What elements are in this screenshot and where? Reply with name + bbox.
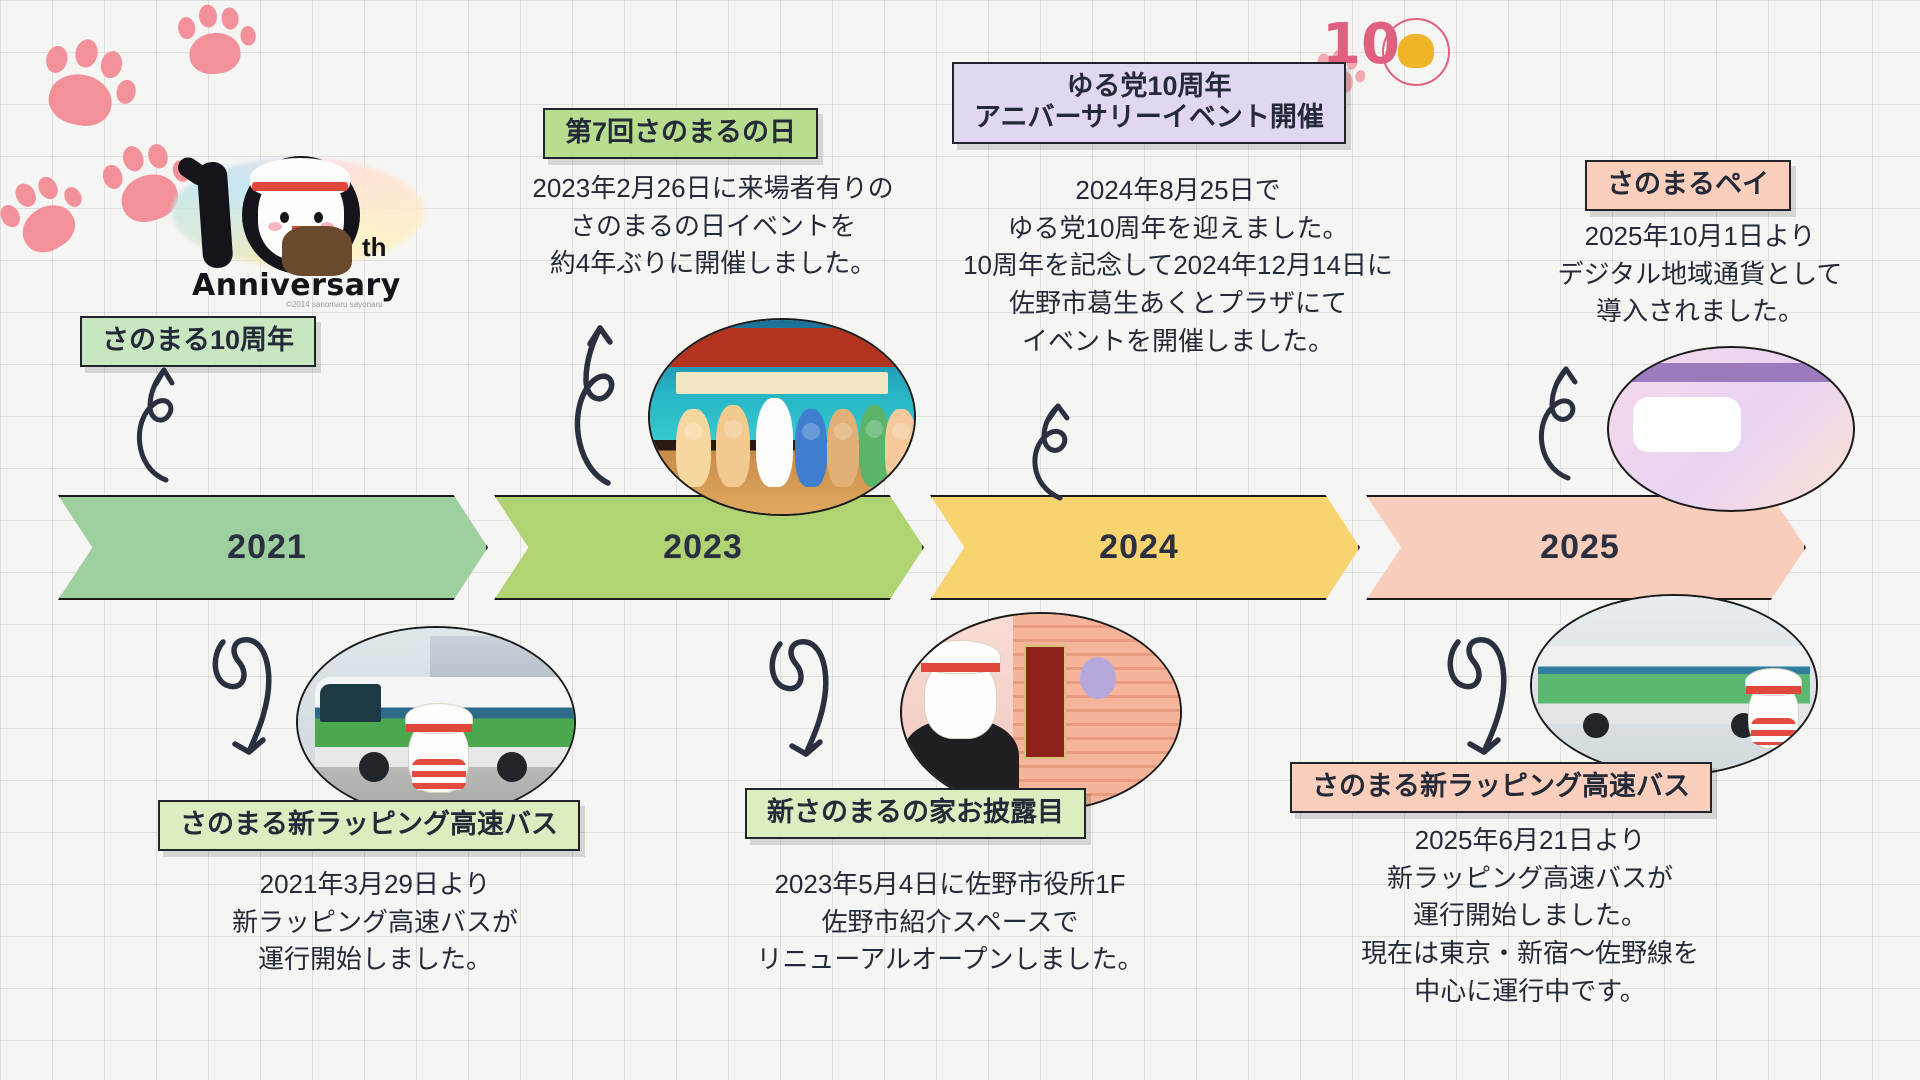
photo-sanomaru-house[interactable] xyxy=(900,612,1182,812)
label-new-sanomaru-house-unveiling[interactable]: 新さのまるの家お披露目 xyxy=(745,788,1086,839)
badge-paw-icon xyxy=(1398,34,1434,68)
timeline-segment-2024[interactable]: 2024 xyxy=(930,495,1360,600)
label-yurutou-10th-anniversary-event[interactable]: ゆる党10周年 アニバーサリーイベント開催 xyxy=(952,62,1346,144)
photo-mascot-stage[interactable] xyxy=(648,318,916,516)
timeline-year-label: 2021 xyxy=(227,528,307,567)
body-2025-top: 2025年10月1日より デジタル地域通貨として 導入されました。 xyxy=(1500,218,1900,331)
logo-anniversary-word: Anniversary xyxy=(192,268,401,303)
timeline-band: 2021 2023 2024 2025 xyxy=(58,495,1868,600)
label-sanomaru-pay[interactable]: さのまるペイ xyxy=(1585,160,1791,211)
body-2023-top: 2023年2月26日に来場者有りの さのまるの日イベントを 約4年ぶりに開催しま… xyxy=(478,170,948,283)
curved-arrow-up-2021 xyxy=(120,362,190,482)
timeline-year-label: 2023 xyxy=(663,528,743,567)
tenth-anniversary-logo: th Anniversary ©2014 sanomaru sayonaru xyxy=(178,140,418,315)
infographic-canvas: th Anniversary ©2014 sanomaru sayonaru 1… xyxy=(0,0,1920,1080)
curved-arrow-down-2025 xyxy=(1440,630,1526,770)
body-2025-bottom: 2025年6月21日より 新ラッピング高速バスが 運行開始しました。 現在は東京… xyxy=(1290,822,1770,1010)
logo-ordinal-suffix: th xyxy=(362,232,387,263)
label-sanomaru-10th[interactable]: さのまる10周年 xyxy=(80,316,316,367)
curved-arrow-down-2023 xyxy=(762,632,848,772)
logo-credit: ©2014 sanomaru sayonaru xyxy=(286,300,383,309)
curved-arrow-down-2021 xyxy=(205,630,291,770)
curved-arrow-up-2025 xyxy=(1520,362,1592,480)
label-7th-sanomaru-day[interactable]: 第7回さのまるの日 xyxy=(543,108,818,159)
label-new-wrapped-bus-2021[interactable]: さのまる新ラッピング高速バス xyxy=(158,800,580,851)
photo-wrapped-bus-2025[interactable] xyxy=(1530,594,1818,776)
timeline-segment-2021[interactable]: 2021 xyxy=(58,495,488,600)
curved-arrow-up-2023 xyxy=(548,320,628,485)
timeline-year-label: 2025 xyxy=(1540,528,1620,567)
curved-arrow-up-2024 xyxy=(1010,400,1084,500)
photo-sanomaru-pay[interactable] xyxy=(1607,346,1855,512)
body-2023-bottom: 2023年5月4日に佐野市役所1F 佐野市紹介スペースで リニューアルオープンし… xyxy=(700,866,1200,979)
timeline-year-label: 2024 xyxy=(1099,528,1179,567)
body-2021-bottom: 2021年3月29日より 新ラッピング高速バスが 運行開始しました。 xyxy=(160,866,590,979)
label-new-wrapped-bus-2025[interactable]: さのまる新ラッピング高速バス xyxy=(1290,762,1712,813)
photo-wrapped-bus-2021[interactable] xyxy=(296,626,576,818)
body-2024-top: 2024年8月25日で ゆる党10周年を迎えました。 10周年を記念して2024… xyxy=(908,172,1448,360)
